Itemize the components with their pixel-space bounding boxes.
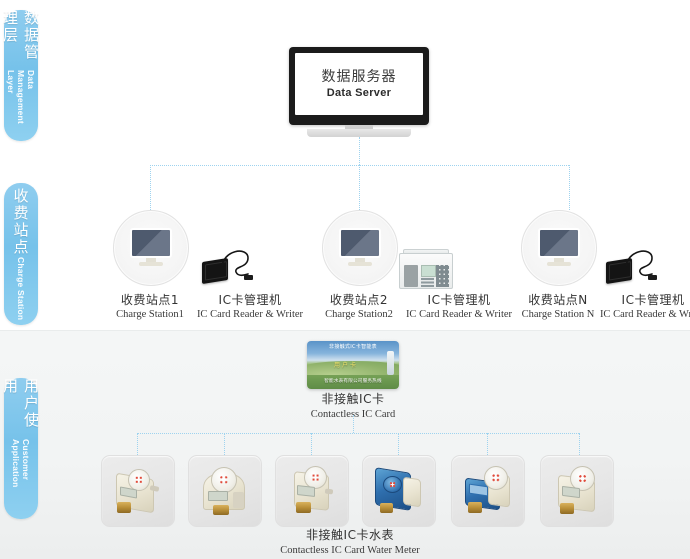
station-badge bbox=[113, 210, 189, 286]
layer-tab-customer-application[interactable]: 用户使用 Customer Application bbox=[4, 378, 38, 519]
monitor-bezel: 数据服务器 Data Server bbox=[289, 47, 429, 125]
water-meter-3[interactable] bbox=[275, 455, 349, 527]
usb-card-reader-icon-1 bbox=[200, 242, 260, 290]
pc-workstation-icon bbox=[339, 228, 381, 266]
station-2-device-caption: IC卡管理机 IC Card Reader & Writer bbox=[394, 293, 524, 321]
water-meter-6[interactable] bbox=[540, 455, 614, 527]
reader-cable bbox=[622, 244, 658, 278]
station-1-device-caption: IC卡管理机 IC Card Reader & Writer bbox=[185, 293, 315, 321]
station-1-device-label-cn: IC卡管理机 bbox=[185, 293, 315, 308]
water-meter-icon bbox=[371, 464, 427, 518]
station-badge bbox=[521, 210, 597, 286]
water-meter-icon bbox=[460, 464, 516, 518]
connector-to-meter-1 bbox=[137, 433, 138, 455]
connector-to-meter-2 bbox=[224, 433, 225, 455]
connector-to-station-1 bbox=[150, 165, 151, 210]
station-n-device-label-en: IC Card Reader & Writer bbox=[588, 308, 690, 321]
connector-server-down bbox=[359, 137, 360, 165]
water-meter-icon bbox=[110, 464, 166, 518]
card-face-bottom-text: 智能水表有限公司服务热线 bbox=[307, 378, 399, 384]
layer-tab-label-cn: 数据管理层 bbox=[0, 10, 42, 69]
station-badge bbox=[322, 210, 398, 286]
reader-cable bbox=[218, 244, 254, 278]
water-meter-icon bbox=[197, 464, 253, 518]
ic-card-label-cn: 非接触IC卡 bbox=[263, 392, 443, 408]
keypad-terminal-icon-2 bbox=[399, 247, 451, 289]
server-label-en: Data Server bbox=[327, 87, 391, 99]
connector-to-station-3 bbox=[569, 165, 570, 210]
water-meter-icon bbox=[549, 464, 605, 518]
connector-card-down bbox=[353, 415, 354, 433]
station-n-device-label-cn: IC卡管理机 bbox=[588, 293, 690, 308]
connector-meters-bus bbox=[137, 433, 579, 434]
station-2-device-label-en: IC Card Reader & Writer bbox=[394, 308, 524, 321]
server-label-cn: 数据服务器 bbox=[322, 69, 397, 87]
water-meter-icon bbox=[284, 464, 340, 518]
card-face-top-text: 非接触式IC卡智能表 bbox=[307, 343, 399, 350]
layer-tab-label-en: Customer Application bbox=[11, 439, 31, 520]
smart-card-icon: 非接触式IC卡智能表 用户卡 智能水表有限公司服务热线 bbox=[307, 341, 399, 389]
water-meter-5[interactable] bbox=[451, 455, 525, 527]
water-meter-2[interactable] bbox=[188, 455, 262, 527]
layer-tab-label-en: Data Management Layer bbox=[6, 70, 36, 141]
connector-to-meter-4 bbox=[398, 433, 399, 455]
connector-to-station-2 bbox=[359, 165, 360, 210]
layer-tab-label-en: Charge Station bbox=[16, 257, 26, 320]
layer-tab-data-management[interactable]: 数据管理层 Data Management Layer bbox=[4, 10, 38, 141]
data-server-node[interactable]: 数据服务器 Data Server bbox=[289, 47, 429, 137]
card-chip bbox=[387, 351, 394, 375]
pc-workstation-icon bbox=[130, 228, 172, 266]
station-2-device-label-cn: IC卡管理机 bbox=[394, 293, 524, 308]
monitor-stand-base bbox=[307, 129, 411, 137]
connector-to-meter-5 bbox=[487, 433, 488, 455]
contactless-ic-card-node[interactable]: 非接触式IC卡智能表 用户卡 智能水表有限公司服务热线 bbox=[307, 341, 399, 389]
pc-workstation-icon bbox=[538, 228, 580, 266]
water-meter-label-cn: 非接触IC卡水表 bbox=[240, 528, 460, 544]
usb-card-reader-icon-n bbox=[604, 242, 664, 290]
monitor-screen: 数据服务器 Data Server bbox=[295, 53, 423, 115]
water-meter-label-en: Contactless IC Card Water Meter bbox=[240, 544, 460, 558]
layer-tab-charge-station[interactable]: 收费站点 Charge Station bbox=[4, 183, 38, 325]
architecture-diagram: 数据管理层 Data Management Layer 收费站点 Charge … bbox=[0, 0, 690, 559]
band-divider bbox=[0, 330, 690, 331]
water-meter-caption: 非接触IC卡水表 Contactless IC Card Water Meter bbox=[240, 528, 460, 557]
connector-to-meter-6 bbox=[579, 433, 580, 455]
station-1-device-label-en: IC Card Reader & Writer bbox=[185, 308, 315, 321]
card-face-center-text: 用户卡 bbox=[321, 358, 371, 370]
station-n-device-caption: IC卡管理机 IC Card Reader & Writer bbox=[588, 293, 690, 321]
connector-to-meter-3 bbox=[311, 433, 312, 455]
water-meter-1[interactable] bbox=[101, 455, 175, 527]
layer-tab-label-cn: 收费站点 bbox=[11, 188, 32, 256]
water-meter-4[interactable] bbox=[362, 455, 436, 527]
layer-tab-label-cn: 用户使用 bbox=[0, 378, 42, 438]
